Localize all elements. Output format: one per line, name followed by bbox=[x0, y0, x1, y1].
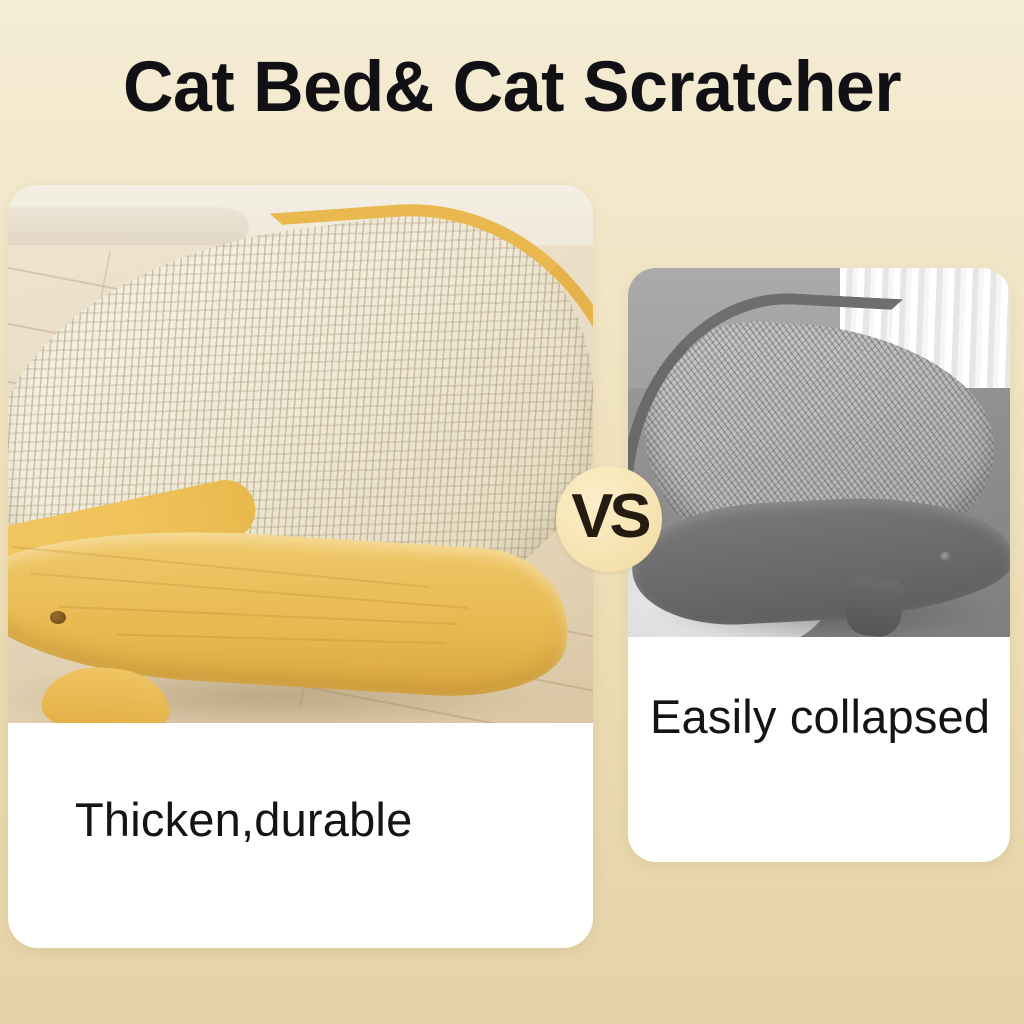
product-photo-left bbox=[8, 185, 593, 723]
frame-leg bbox=[843, 575, 905, 637]
comparison-card-right: Easily collapsed bbox=[628, 268, 1010, 862]
screw-icon bbox=[50, 611, 66, 624]
frame-rim-top bbox=[628, 285, 903, 501]
page-title: Cat Bed& Cat Scratcher bbox=[8, 48, 1017, 128]
versus-badge: VS bbox=[556, 466, 662, 572]
wooden-rim-top bbox=[270, 189, 593, 467]
caption-left: Thicken,durable bbox=[75, 792, 412, 848]
comparison-card-left: Thicken,durable bbox=[8, 185, 593, 948]
product-comparison-graphic: Cat Bed& Cat Scratcher bbox=[0, 0, 1024, 1024]
collapsed-scratcher-product bbox=[628, 286, 1010, 636]
screw-icon bbox=[940, 552, 951, 561]
product-photo-right bbox=[628, 268, 1010, 637]
versus-label: VS bbox=[571, 486, 647, 548]
cat-scratcher-product bbox=[8, 213, 593, 723]
caption-right: Easily collapsed bbox=[650, 689, 990, 745]
